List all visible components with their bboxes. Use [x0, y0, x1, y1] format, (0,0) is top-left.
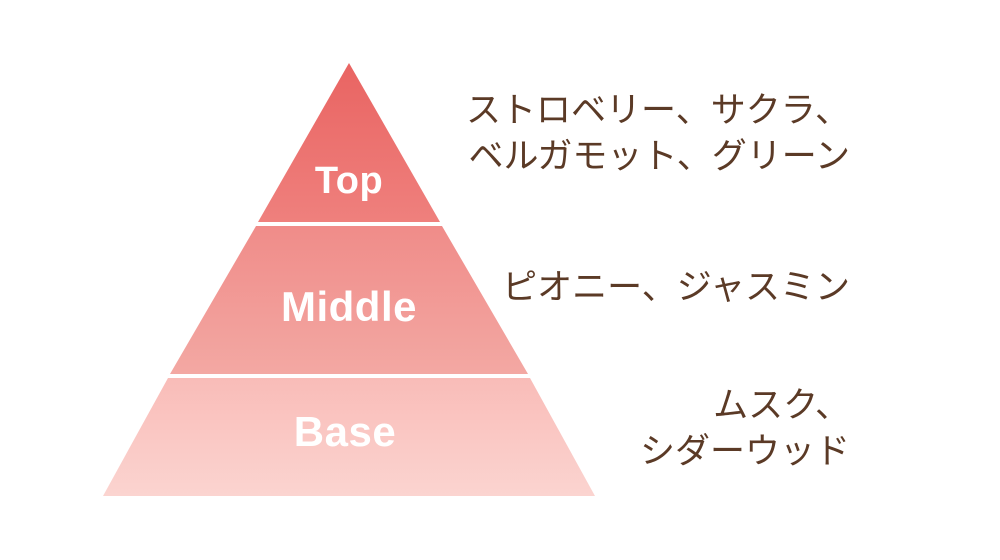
notes-base-line-1: ムスク、	[640, 383, 850, 429]
notes-top-line-2: ベルガモット、グリーン	[466, 134, 850, 180]
tier-label-top: Top	[315, 162, 383, 200]
notes-middle-line-1: ピオニー、ジャスミン	[502, 265, 850, 311]
fragrance-pyramid-diagram: Top Middle Base ストロベリー、サクラ、 ベルガモット、グリーン …	[0, 0, 1000, 560]
notes-top-line-1: ストロベリー、サクラ、	[466, 88, 850, 134]
pyramid-graphic	[0, 0, 1000, 560]
tier-label-middle: Middle	[281, 286, 417, 328]
tier-label-base: Base	[294, 411, 396, 453]
notes-base-line-2: シダーウッド	[640, 429, 850, 475]
notes-top: ストロベリー、サクラ、 ベルガモット、グリーン	[466, 88, 850, 180]
notes-middle: ピオニー、ジャスミン	[502, 265, 850, 311]
notes-base: ムスク、 シダーウッド	[640, 383, 850, 475]
